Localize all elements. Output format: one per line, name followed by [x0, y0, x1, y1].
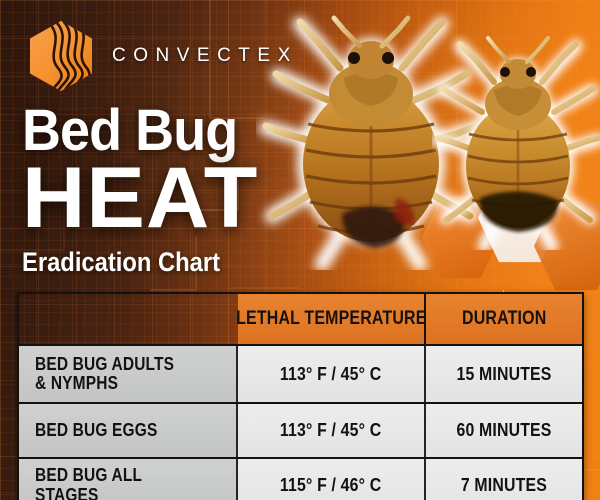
table-cell-lethal-temperature: 115° F / 46° C — [238, 459, 426, 500]
table-row: BED BUG ALL STAGES 115° F / 46° C 7 MINU… — [19, 457, 582, 500]
brand-name: CONVECTEX — [112, 45, 298, 67]
headline-line-3: Eradication Chart — [22, 249, 251, 276]
table-row: BED BUG ADULTS & NYMPHS 113° F / 45° C 1… — [19, 344, 582, 402]
eradication-chart-table: LETHAL TEMPERATURE DURATION BED BUG ADUL… — [17, 292, 584, 500]
table-cell-duration: 15 MINUTES — [426, 346, 582, 402]
table-header-row: LETHAL TEMPERATURE DURATION — [19, 294, 582, 344]
table-row: BED BUG EGGS 113° F / 45° C 60 MINUTES — [19, 402, 582, 457]
headline-line-2: HEAT — [22, 161, 287, 237]
table-cell-lethal-temperature: 113° F / 45° C — [238, 346, 426, 402]
hexagon-shape-orange — [534, 200, 600, 292]
table-cell-duration: 60 MINUTES — [426, 404, 582, 457]
headline-line-1: Bed Bug — [22, 104, 264, 157]
hexagon-shape-orange — [422, 194, 500, 280]
hexagon-shape-white — [478, 172, 562, 264]
table-cell-stage: BED BUG EGGS — [19, 404, 238, 457]
table-header-cell-blank — [19, 294, 238, 344]
headline-block: Bed Bug HEAT Eradication Chart — [22, 104, 282, 276]
table-header-lethal-temperature: LETHAL TEMPERATURE — [238, 294, 426, 344]
bed-bug-small-image — [432, 28, 600, 250]
table-cell-duration: 7 MINUTES — [426, 459, 582, 500]
table-header-duration: DURATION — [426, 294, 582, 344]
infographic-poster: CONVECTEX Bed Bug HEAT Eradication Chart… — [0, 0, 600, 500]
table-cell-stage: BED BUG ADULTS & NYMPHS — [19, 346, 238, 402]
table-cell-stage: BED BUG ALL STAGES — [19, 459, 238, 500]
hexagon-wave-logo-icon — [28, 20, 94, 92]
brand-lockup: CONVECTEX — [28, 20, 298, 92]
table-cell-lethal-temperature: 113° F / 45° C — [238, 404, 426, 457]
